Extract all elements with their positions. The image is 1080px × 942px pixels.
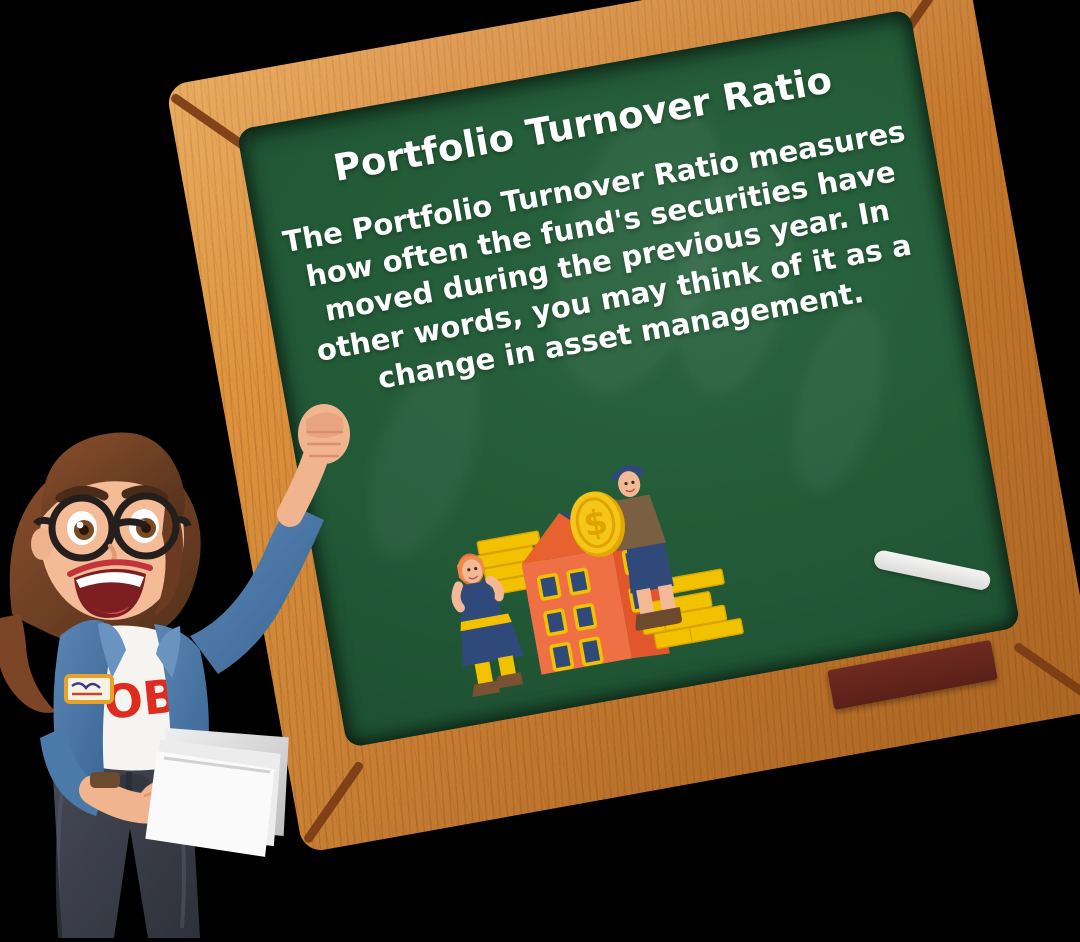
raised-fist xyxy=(290,404,350,514)
chalk-smudge xyxy=(775,296,904,501)
stack-of-papers xyxy=(145,719,296,857)
excited-woman-character: JOB xyxy=(0,386,354,938)
wristwatch xyxy=(90,772,120,788)
savings-house-illustration: $ xyxy=(429,436,765,715)
scene-root: Portfolio Turnover Ratio The Portfolio T… xyxy=(0,0,1080,934)
name-badge xyxy=(66,676,112,702)
raised-arm-sleeve xyxy=(190,504,324,674)
